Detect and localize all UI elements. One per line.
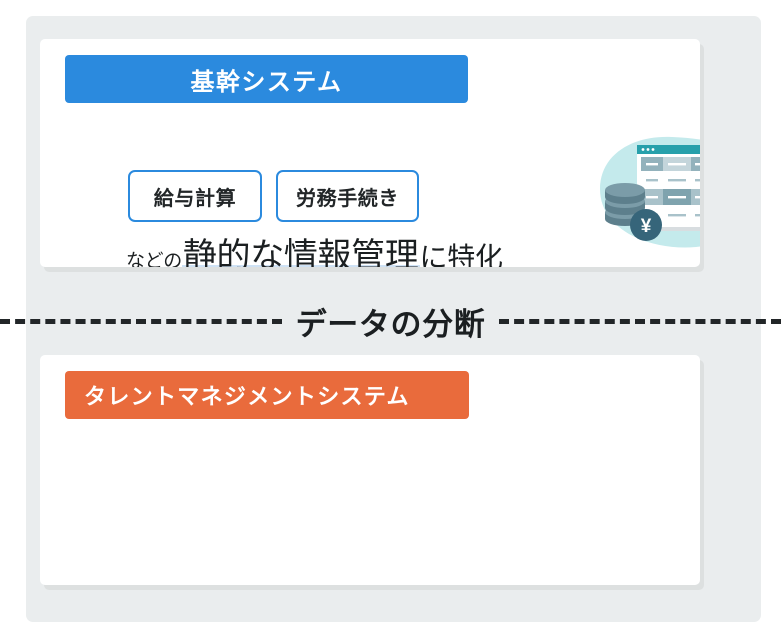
- spreadsheet-window: [637, 145, 700, 227]
- tag-payroll-calculation[interactable]: 給与計算: [128, 170, 262, 222]
- window-titlebar: [637, 145, 700, 154]
- window-dot: [642, 148, 645, 151]
- table-row-band: [641, 189, 700, 205]
- card-core-system: 基幹システム 給与計算 労務手続き などの静的な情報管理に特化: [40, 39, 700, 267]
- payroll-table-coins-illustration: ¥: [588, 127, 700, 255]
- divider: データの分断: [0, 293, 781, 349]
- table-cell: [691, 157, 700, 171]
- divider-line-right: [499, 319, 781, 324]
- cell-text-line: [668, 179, 686, 181]
- yen-coin-icon: ¥: [630, 209, 662, 241]
- card-core-system-description: などの静的な情報管理に特化: [126, 239, 503, 267]
- card-talent-management-system: タレントマネジメントシステム スキル キャリア志向 評価 などの動的な情報の活用…: [40, 355, 700, 585]
- table-cell: [663, 189, 691, 205]
- cell-text-line: [695, 179, 700, 181]
- coin-stack: [605, 183, 645, 226]
- cell-text-line: [695, 163, 700, 165]
- table-row-band: [641, 157, 700, 171]
- divider-label: データの分断: [282, 299, 500, 344]
- core-desc-prefix: などの: [126, 251, 182, 267]
- core-desc-emphasis: 静的な情報管理: [182, 237, 420, 267]
- divider-line-left: [0, 319, 282, 324]
- cell-text-line: [668, 214, 686, 216]
- cell-text-line: [646, 163, 658, 165]
- window-shadow: [641, 149, 700, 231]
- cell-text-line: [646, 196, 658, 198]
- cell-text-line: [668, 196, 686, 198]
- core-desc-suffix: に特化: [420, 242, 503, 267]
- table-cell: [641, 157, 663, 171]
- cell-text-line: [646, 214, 658, 216]
- card-core-system-tag-list: 給与計算 労務手続き: [128, 170, 419, 222]
- cell-text-line: [695, 214, 700, 216]
- cell-text-line: [695, 196, 700, 198]
- window-dot: [647, 148, 650, 151]
- card-talent-management-system-header: タレントマネジメントシステム: [65, 371, 469, 419]
- yen-symbol: ¥: [641, 216, 652, 237]
- teal-blob-shape: [600, 137, 700, 248]
- cell-text-line: [668, 163, 686, 165]
- cell-text-line: [646, 179, 658, 181]
- window-dot: [652, 148, 655, 151]
- tag-labor-procedures[interactable]: 労務手続き: [276, 170, 419, 222]
- card-core-system-header: 基幹システム: [65, 55, 468, 103]
